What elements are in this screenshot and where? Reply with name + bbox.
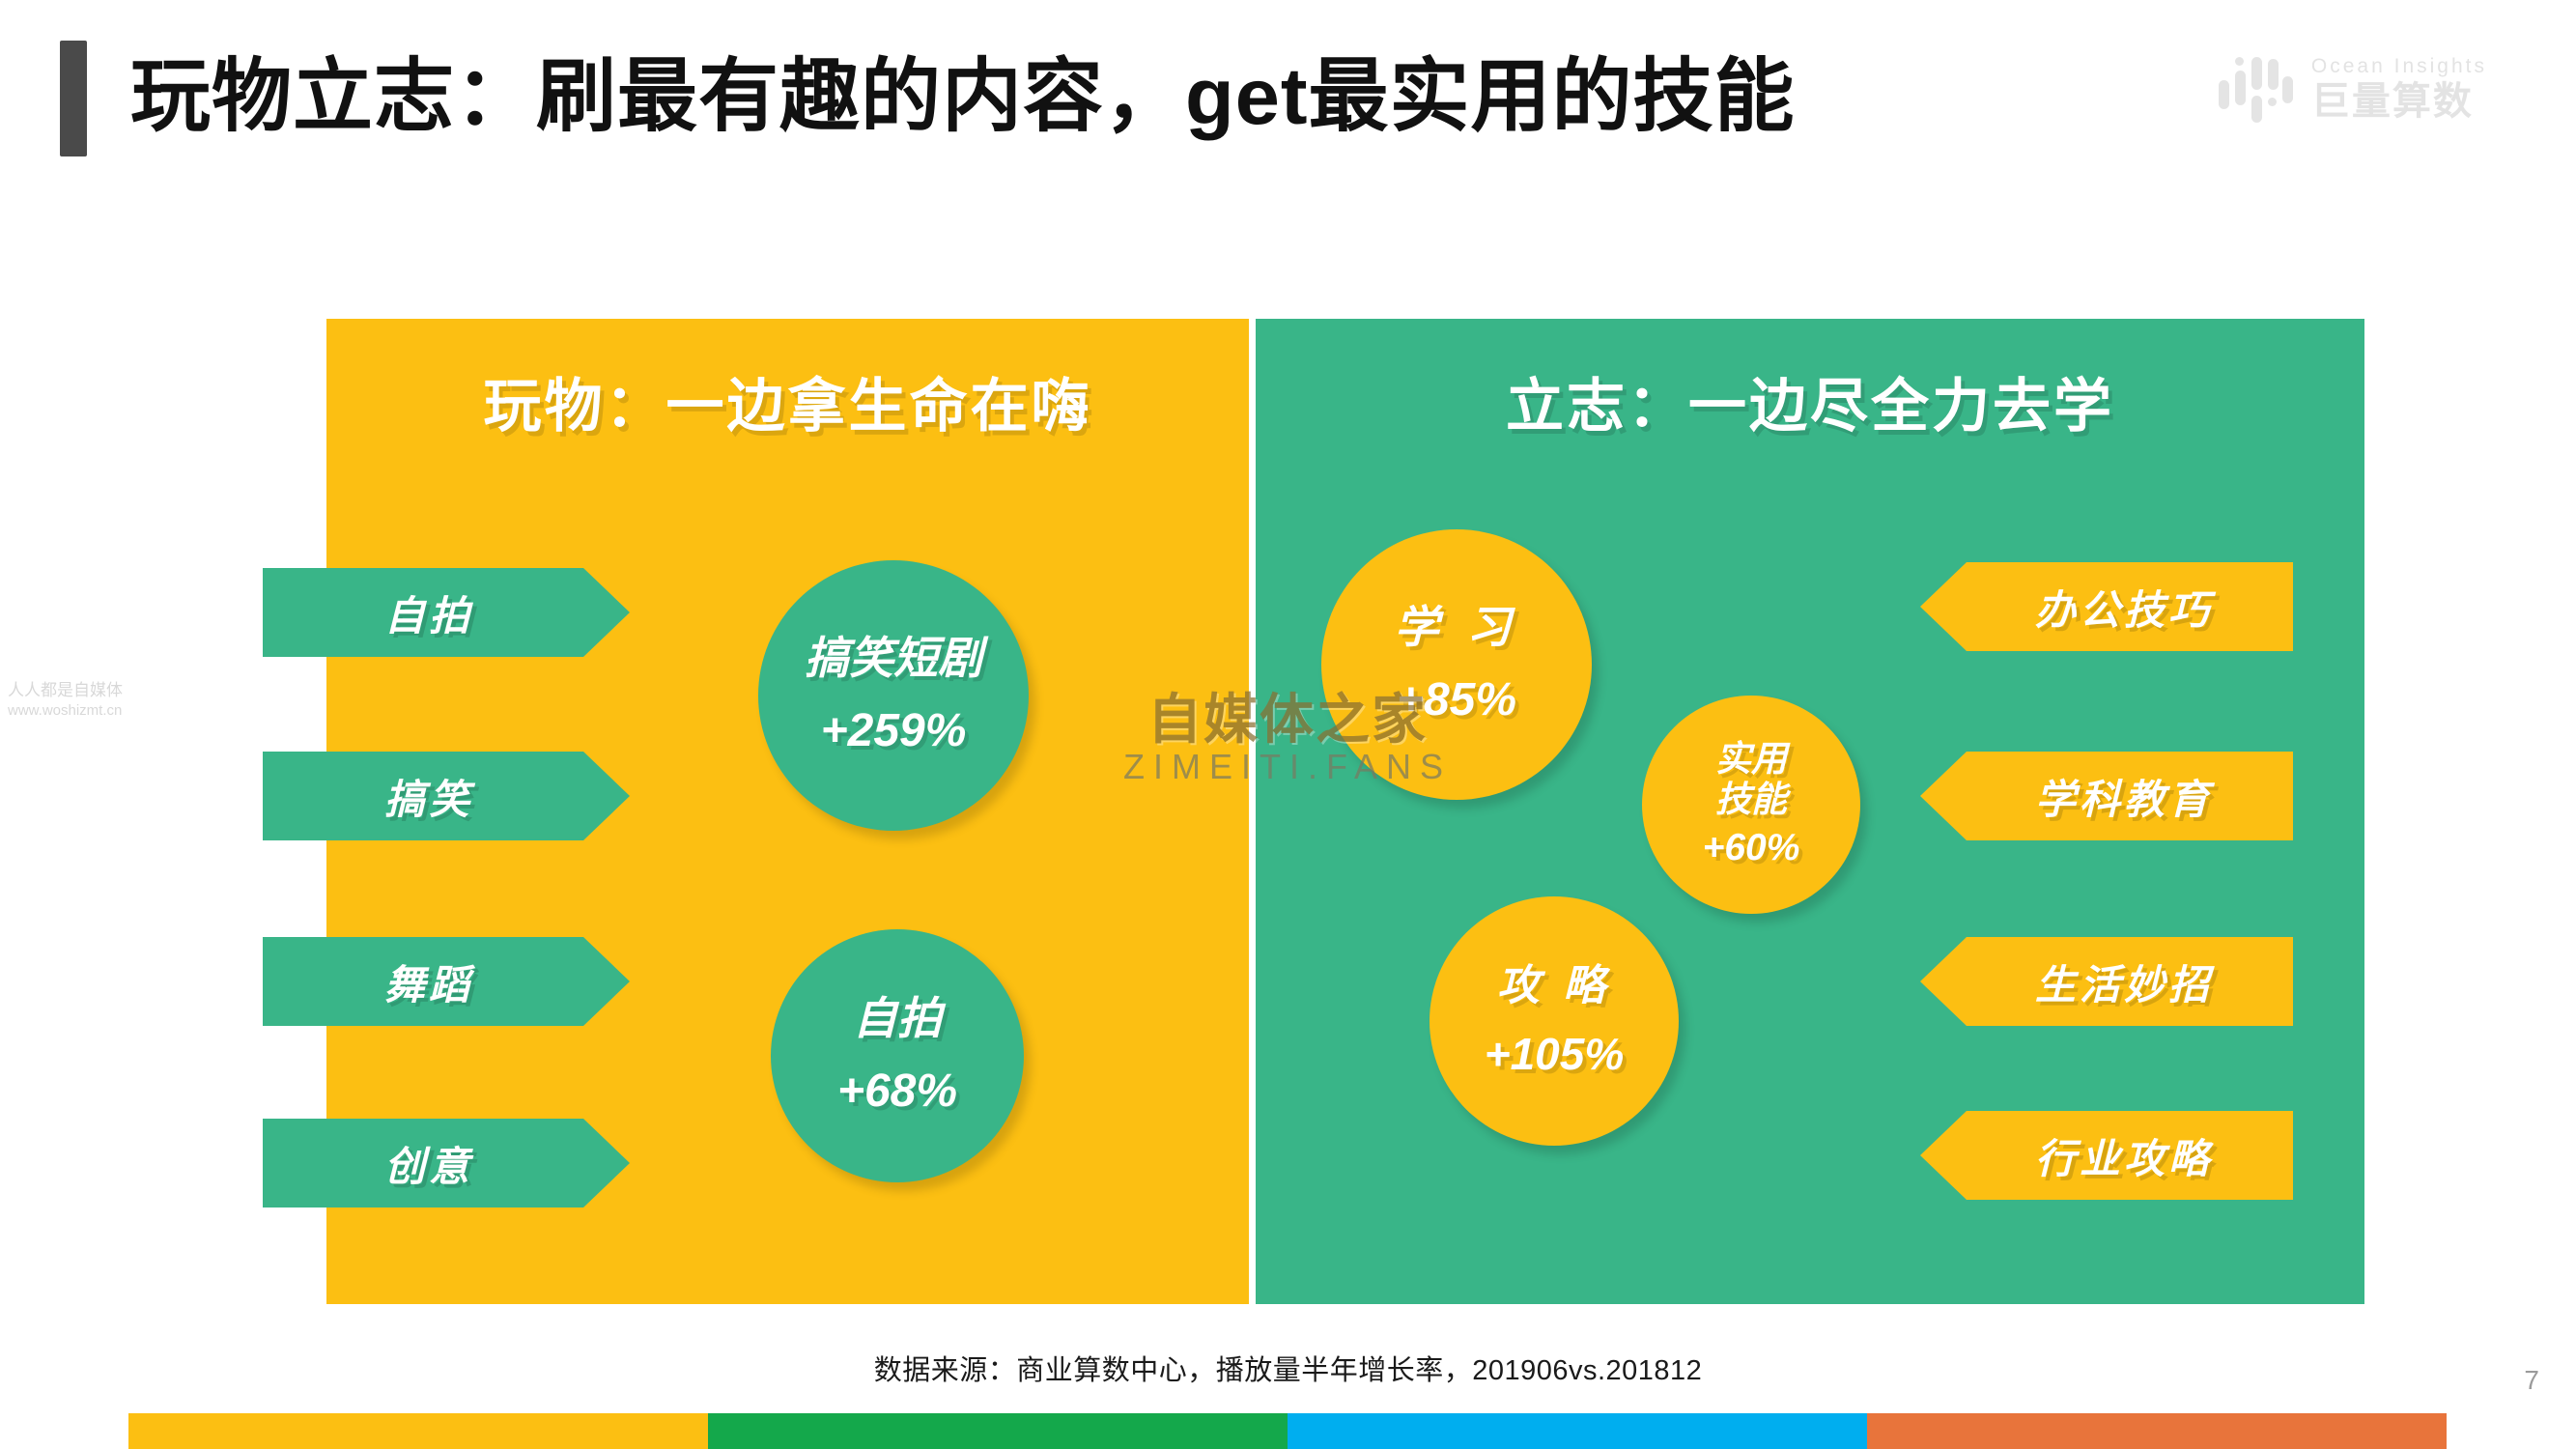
bubble-practical-skill-label: 实用 技能	[1715, 739, 1787, 819]
panel-aspire-heading-text: 立志：一边尽全力去学	[1506, 359, 2114, 443]
tag-right-3-label: 生活妙招	[2035, 952, 2213, 1011]
content-board: 玩物：一边拿生命在嗨 立志：一边尽全力去学 自拍 搞笑 舞蹈 创意 办公技巧 学…	[0, 319, 2576, 1304]
bubble-selfie-label: 自拍	[853, 994, 942, 1044]
bubble-study[interactable]: 学 习 +85%	[1321, 529, 1592, 800]
bubble-guide[interactable]: 攻 略 +105%	[1430, 896, 1679, 1146]
tag-right-2[interactable]: 学科教育	[1920, 752, 2293, 840]
footer-bar-segment-2	[708, 1413, 1288, 1449]
brand-text: Ocean Insights 巨量算数	[2311, 56, 2487, 122]
tag-left-2-label: 搞笑	[384, 767, 473, 826]
tag-right-4-label: 行业攻略	[2035, 1126, 2213, 1185]
tag-left-3[interactable]: 舞蹈	[263, 937, 630, 1026]
equalizer-icon	[2217, 53, 2294, 125]
panel-play-heading-text: 玩物：一边拿生命在嗨	[484, 359, 1092, 443]
bubble-guide-value: +105%	[1485, 1029, 1625, 1080]
brand-en-label: Ocean Insights	[2311, 56, 2487, 77]
tag-left-1[interactable]: 自拍	[263, 568, 630, 657]
bubble-selfie[interactable]: 自拍 +68%	[771, 929, 1024, 1182]
tag-left-1-label: 自拍	[384, 583, 473, 642]
bubble-funny-shortplay-label: 搞笑短剧	[805, 634, 982, 684]
bubble-guide-label: 攻 略	[1497, 962, 1611, 1009]
footer-color-bar	[128, 1413, 2447, 1449]
tag-right-4[interactable]: 行业攻略	[1920, 1111, 2293, 1200]
bubble-study-label: 学 习	[1395, 603, 1519, 653]
tag-left-2[interactable]: 搞笑	[263, 752, 630, 840]
footer-bar-segment-1	[128, 1413, 708, 1449]
bubble-practical-skill-value: +60%	[1703, 827, 1800, 870]
watermark-left: 人人都是自媒体 www.woshizmt.cn	[8, 681, 162, 719]
title-accent-bar	[60, 41, 87, 156]
bubble-practical-skill[interactable]: 实用 技能 +60%	[1642, 696, 1860, 914]
panel-play-heading: 玩物：一边拿生命在嗨	[326, 319, 1249, 483]
footer-bar-segment-4	[1867, 1413, 2447, 1449]
tag-left-3-label: 舞蹈	[384, 952, 473, 1011]
panel-aspire-heading: 立志：一边尽全力去学	[1256, 319, 2364, 483]
tag-right-1[interactable]: 办公技巧	[1920, 562, 2293, 651]
bubble-selfie-value: +68%	[837, 1065, 957, 1118]
bubble-study-value: +85%	[1397, 673, 1516, 726]
tag-left-4[interactable]: 创意	[263, 1119, 630, 1207]
page-number: 7	[2524, 1365, 2539, 1396]
watermark-left-line1: 人人都是自媒体	[8, 681, 162, 699]
tag-right-3[interactable]: 生活妙招	[1920, 937, 2293, 1026]
tag-left-4-label: 创意	[384, 1134, 473, 1193]
data-source-note: 数据来源：商业算数中心，播放量半年增长率，201906vs.201812	[0, 1348, 2576, 1388]
tag-right-1-label: 办公技巧	[2035, 578, 2213, 637]
footer-bar-segment-3	[1288, 1413, 1867, 1449]
brand-cn-label: 巨量算数	[2311, 81, 2474, 122]
page-title: 玩物立志：刷最有趣的内容，get最实用的技能	[130, 37, 1796, 156]
tag-right-2-label: 学科教育	[2035, 767, 2213, 826]
watermark-left-line2: www.woshizmt.cn	[8, 702, 162, 719]
bubble-funny-shortplay[interactable]: 搞笑短剧 +259%	[758, 560, 1029, 831]
brand-logo: Ocean Insights 巨量算数	[2081, 41, 2487, 137]
bubble-funny-shortplay-value: +259%	[821, 704, 967, 757]
slide-header: 玩物立志：刷最有趣的内容，get最实用的技能 Ocean Insights 巨量…	[0, 0, 2576, 208]
